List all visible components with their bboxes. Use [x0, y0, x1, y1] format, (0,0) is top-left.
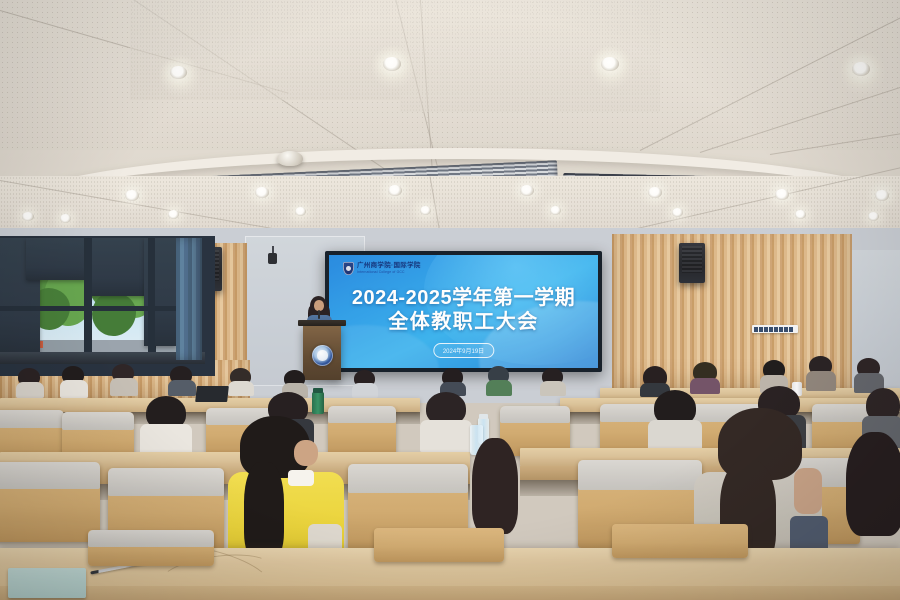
- ceiling-downlight: [775, 189, 789, 200]
- microphone-icon: [318, 310, 320, 319]
- ceiling-downlight: [383, 57, 401, 71]
- ceiling-downlight: [125, 190, 139, 201]
- audience-member: [846, 432, 900, 552]
- audience-member: [352, 370, 378, 396]
- podium-emblem-icon: [312, 345, 333, 366]
- laptop: [195, 386, 229, 402]
- audience-member: [540, 368, 566, 394]
- window-blind-2[interactable]: [26, 238, 86, 280]
- audience-member: [690, 362, 720, 392]
- ceiling-downlight: [868, 212, 879, 221]
- ceiling-downlight: [795, 210, 806, 219]
- audience-member: [140, 396, 192, 452]
- lecture-seat[interactable]: [374, 528, 504, 562]
- audience-member: [60, 366, 88, 396]
- audience-member: [168, 366, 196, 394]
- ceiling-downlight: [168, 210, 179, 219]
- ceiling-downlight: [550, 206, 561, 215]
- slide-logo-english: International College of GCC: [357, 271, 421, 274]
- slide-title-line2: 全体教职工大会: [329, 311, 598, 335]
- ceiling-downlight: [255, 187, 269, 198]
- slide-logo-chinese: 广州商学院·国际学院: [357, 263, 421, 270]
- lecture-hall-photo: 广州商学院·国际学院 International College of GCC …: [0, 0, 900, 600]
- ceiling-panel-lower: [0, 176, 900, 236]
- ceiling-downlight: [170, 66, 187, 79]
- ceiling-downlight: [420, 206, 431, 215]
- smoke-detector-icon: [277, 151, 303, 166]
- slide-logo: 广州商学院·国际学院 International College of GCC: [343, 262, 421, 275]
- ceiling-downlight: [875, 190, 889, 201]
- window-blind-3[interactable]: [90, 238, 150, 296]
- ceiling: [0, 0, 900, 236]
- loudspeaker-right: [679, 243, 705, 283]
- audience-member: [228, 368, 254, 394]
- window-sill: [0, 352, 205, 364]
- audience-member: [440, 368, 466, 394]
- camera-icon: [268, 253, 277, 264]
- university-crest-icon: [343, 262, 354, 275]
- ceiling-downlight: [648, 187, 662, 198]
- ceiling-downlight: [60, 214, 71, 223]
- window-curtain: [176, 238, 202, 360]
- notebook: [8, 568, 86, 598]
- audience-member: [854, 358, 884, 392]
- ceiling-downlight: [601, 57, 619, 71]
- ceiling-downlight: [852, 62, 870, 76]
- wall-switch-panel[interactable]: [752, 325, 798, 333]
- ceiling-downlight: [520, 185, 534, 196]
- lecture-seat[interactable]: [88, 530, 214, 566]
- ceiling-downlight: [388, 185, 402, 196]
- audience-member: [16, 368, 44, 396]
- slide-title: 2024-2025学年第一学期 全体教职工大会: [329, 287, 598, 334]
- ceiling-downlight: [672, 208, 683, 217]
- audience-member-yellow-shirt: [222, 416, 348, 562]
- audience-member: [420, 392, 472, 450]
- ceiling-downlight: [295, 207, 306, 216]
- audience-member: [110, 364, 138, 394]
- audience-member: [806, 356, 836, 390]
- projection-screen: 广州商学院·国际学院 International College of GCC …: [329, 255, 598, 368]
- slide-date-badge: 2024年9月19日: [433, 343, 494, 358]
- audience-member: [486, 366, 512, 394]
- slide-title-line1: 2024-2025学年第一学期: [329, 287, 598, 311]
- ceiling-downlight: [22, 212, 34, 221]
- lecture-seat[interactable]: [0, 462, 100, 542]
- lecture-seat[interactable]: [612, 524, 748, 558]
